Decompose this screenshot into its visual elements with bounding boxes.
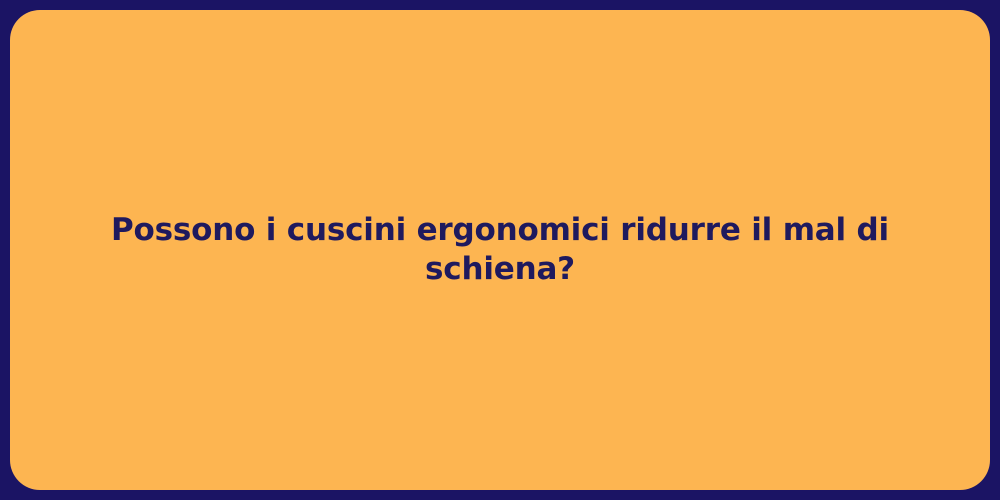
hero-card: Possono i cuscini ergonomici ridurre il … [10, 10, 990, 490]
page-background: Possono i cuscini ergonomici ridurre il … [0, 0, 1000, 500]
page-title: Possono i cuscini ergonomici ridurre il … [80, 211, 920, 289]
